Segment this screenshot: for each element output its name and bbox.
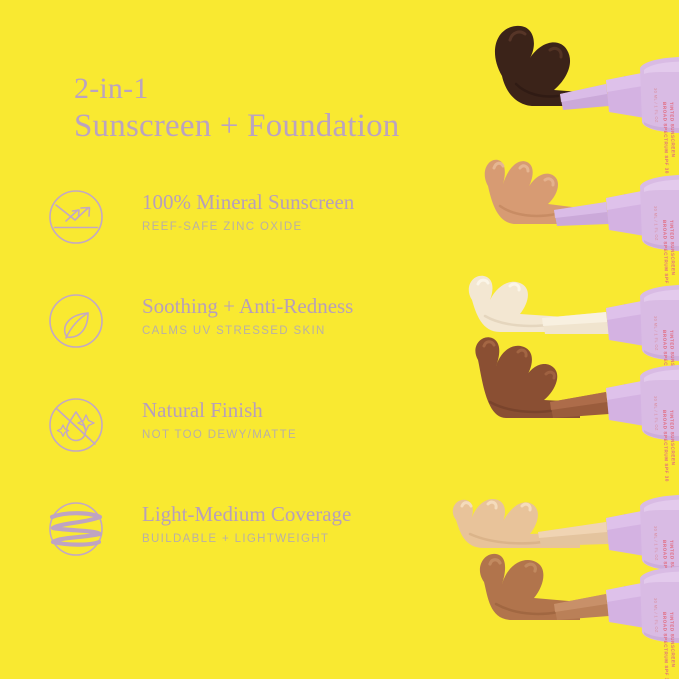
claim-line-1: BROAD SPECTRUM SPF 30 xyxy=(662,410,670,482)
feature-item-coverage: Light-Medium Coverage BUILDABLE + LIGHTW… xyxy=(48,499,478,603)
feature-item-soothing: Soothing + Anti-Redness CALMS UV STRESSE… xyxy=(48,291,478,395)
foundation-swatch xyxy=(469,276,580,332)
bottle-nozzle xyxy=(550,381,645,426)
claim-line-2: TINTED SUNSCREEN xyxy=(669,220,676,276)
claim-line-1: BROAD SPECTRUM SPF 30 xyxy=(662,220,670,292)
feature-title: Light-Medium Coverage xyxy=(142,501,351,527)
bottle-nozzle xyxy=(538,511,645,556)
coverage-swatch-icon xyxy=(48,501,104,557)
headline-line-2: Sunscreen + Foundation xyxy=(74,106,494,146)
feature-title: 100% Mineral Sunscreen xyxy=(142,189,354,215)
page-title: 2-in-1 Sunscreen + Foundation xyxy=(74,72,494,146)
bottle-nozzle xyxy=(560,73,645,118)
claim-line-1: BROAD SPECTRUM SPF 30 xyxy=(662,540,670,612)
claim-line-2: TINTED SUNSCREEN xyxy=(669,540,676,596)
bottle-nozzle xyxy=(554,191,645,236)
bottle-body: SunnyDays BROAD SPECTRUM SPF 30 TINTED S… xyxy=(640,56,679,174)
claim-line-2: TINTED SUNSCREEN xyxy=(669,612,676,668)
claim-line-1: BROAD SPECTRUM SPF 30 xyxy=(662,102,670,174)
feature-subtitle: REEF-SAFE ZINC OXIDE xyxy=(142,218,354,236)
feature-text-block: Natural Finish NOT TOO DEWY/MATTE xyxy=(142,395,297,444)
headline-line-1: 2-in-1 xyxy=(74,72,494,106)
bottle-nozzle xyxy=(542,301,645,346)
volume-label: 30 ML / 1 FL OZ xyxy=(653,396,659,431)
feature-text-block: 100% Mineral Sunscreen REEF-SAFE ZINC OX… xyxy=(142,187,354,236)
feature-subtitle: BUILDABLE + LIGHTWEIGHT xyxy=(142,530,351,548)
volume-label: 30 ML / 1 FL OZ xyxy=(653,316,659,351)
bottle-body: SunnyDays BROAD SPECTRUM SPF 30 TINTED S… xyxy=(640,284,679,402)
bottle-body: SunnyDays BROAD SPECTRUM SPF 30 TINTED S… xyxy=(640,364,679,482)
bottle-body: SunnyDays BROAD SPECTRUM SPF 30 TINTED S… xyxy=(640,494,679,612)
feature-text-block: Light-Medium Coverage BUILDABLE + LIGHTW… xyxy=(142,499,351,548)
volume-label: 30 ML / 1 FL OZ xyxy=(653,526,659,561)
foundation-swatch xyxy=(475,337,580,418)
claim-line-2: TINTED SUNSCREEN xyxy=(669,410,676,466)
product-infographic: 2-in-1 Sunscreen + Foundation 100% Miner… xyxy=(0,0,679,679)
feature-item-natural-finish: Natural Finish NOT TOO DEWY/MATTE xyxy=(48,395,478,499)
feature-item-mineral-sunscreen: 100% Mineral Sunscreen REEF-SAFE ZINC OX… xyxy=(48,187,478,291)
no-dewy-droplet-icon xyxy=(48,397,104,453)
foundation-swatch xyxy=(485,160,580,224)
foundation-swatch xyxy=(495,26,580,106)
bottle-body: SunnyDays BROAD SPECTRUM SPF 30 TINTED S… xyxy=(640,174,679,292)
feature-list: 100% Mineral Sunscreen REEF-SAFE ZINC OX… xyxy=(48,187,478,603)
bottle-nozzle xyxy=(554,583,645,628)
bottle-body: SunnyDays BROAD SPECTRUM SPF 30 TINTED S… xyxy=(640,566,679,679)
claim-line-2: TINTED SUNSCREEN xyxy=(669,102,676,158)
claim-line-2: TINTED SUNSCREEN xyxy=(669,330,676,386)
foundation-swatch xyxy=(480,554,580,620)
volume-label: 30 ML / 1 FL OZ xyxy=(653,598,659,633)
claim-line-1: BROAD SPECTRUM SPF 30 xyxy=(662,612,670,679)
feature-text-block: Soothing + Anti-Redness CALMS UV STRESSE… xyxy=(142,291,353,340)
volume-label: 30 ML / 1 FL OZ xyxy=(653,88,659,123)
volume-label: 30 ML / 1 FL OZ xyxy=(653,206,659,241)
uv-deflect-icon xyxy=(48,189,104,245)
claim-line-1: BROAD SPECTRUM SPF 30 xyxy=(662,330,670,402)
leaf-icon xyxy=(48,293,104,349)
feature-subtitle: CALMS UV STRESSED SKIN xyxy=(142,322,353,340)
feature-title: Soothing + Anti-Redness xyxy=(142,293,353,319)
feature-title: Natural Finish xyxy=(142,397,297,423)
feature-subtitle: NOT TOO DEWY/MATTE xyxy=(142,426,297,444)
